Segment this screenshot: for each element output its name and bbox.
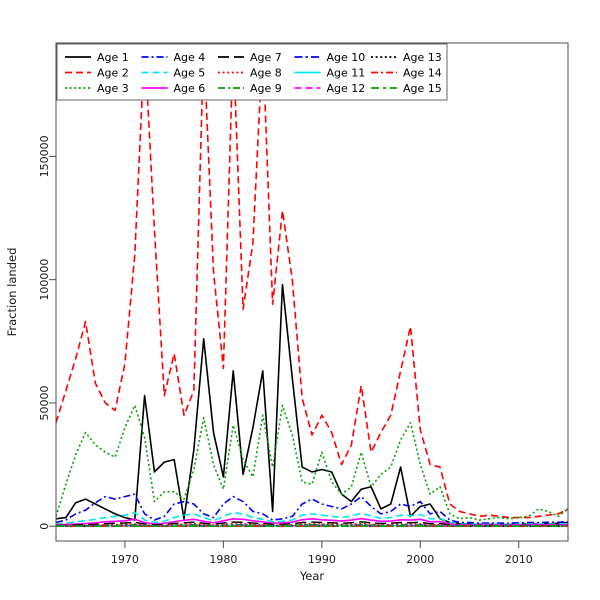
legend-label: Age 7 [250,51,282,64]
legend-label: Age 15 [403,82,442,95]
legend-label: Age 14 [403,67,442,80]
legend-label: Age 6 [174,82,206,95]
legend-label: Age 4 [174,51,206,64]
line-chart: 19701980199020002010050000100000150000Ye… [0,0,600,600]
y-tick-label: 150000 [38,135,51,177]
x-tick-label: 1980 [209,553,237,566]
legend-label: Age 3 [97,82,129,95]
y-axis-title: Fraction landed [5,248,19,337]
legend-label: Age 11 [327,67,366,80]
x-axis-title: Year [299,569,325,583]
legend-label: Age 8 [250,67,282,80]
legend-label: Age 13 [403,51,442,64]
legend-label: Age 12 [327,82,366,95]
x-tick-label: 2010 [505,553,533,566]
legend-label: Age 1 [97,51,129,64]
y-tick-label: 50000 [38,385,51,420]
legend-label: Age 10 [327,51,366,64]
y-tick-label: 0 [38,523,51,530]
y-tick-label: 100000 [38,259,51,301]
legend-label: Age 9 [250,82,282,95]
x-tick-label: 2000 [406,553,434,566]
legend-label: Age 2 [97,67,129,80]
legend-label: Age 5 [174,67,206,80]
legend-layer[interactable]: Age 1Age 2Age 3Age 4Age 5Age 6Age 7Age 8… [57,44,447,100]
x-tick-label: 1970 [111,553,139,566]
chart-root: 19701980199020002010050000100000150000Ye… [0,0,600,600]
x-tick-label: 1990 [308,553,336,566]
